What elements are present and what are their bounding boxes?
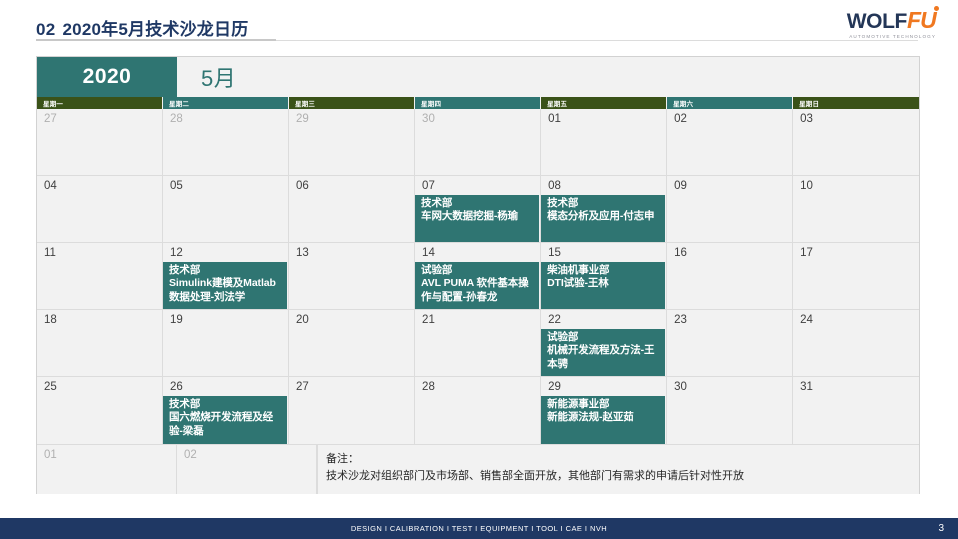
day-number: 17 [793,243,919,260]
day-number: 21 [415,310,540,327]
logo-wordmark: WOLF FU [847,9,936,32]
calendar-day-cell[interactable]: 05 [163,176,289,242]
calendar-day-cell[interactable]: 07技术部车网大数据挖掘-杨瑜 [415,176,541,242]
day-number: 30 [667,377,792,394]
day-number: 07 [415,176,540,193]
note-label: 备注： [326,451,919,468]
day-number: 06 [289,176,414,193]
day-number: 19 [163,310,288,327]
calendar-table: 2020 5月 星期一星期二星期三星期四星期五星期六星期日 2728293001… [36,56,920,494]
calendar-day-cell[interactable]: 27 [289,377,415,444]
calendar-day-cell[interactable]: 28 [415,377,541,444]
brand-logo: WOLF FU AUTOMOTIVE TECHNOLOGY [820,6,936,42]
logo-accent-label: FU [907,7,936,33]
calendar-day-cell[interactable]: 09 [667,176,793,242]
day-number: 28 [163,109,288,126]
calendar-trailing-day-cell[interactable]: 01 [37,445,177,494]
event-line: Simulink建模及Matlab数据处理-刘法学 [169,277,284,304]
calendar-day-cell[interactable]: 27 [37,109,163,175]
day-number: 24 [793,310,919,327]
day-number: 01 [37,445,176,462]
day-number: 03 [793,109,919,126]
event-line: 试验部 [547,331,662,344]
day-number: 11 [37,243,162,260]
calendar-day-cell[interactable]: 28 [163,109,289,175]
calendar-trailing-day-cell[interactable]: 02 [177,445,317,494]
calendar-day-cell[interactable]: 16 [667,243,793,309]
event-line: 技术部 [169,264,284,277]
day-number: 30 [415,109,540,126]
weekday-header-1: 星期一 [37,97,163,109]
day-number: 23 [667,310,792,327]
slide-root: 02 2020年5月技术沙龙日历 WOLF FU AUTOMOTIVE TECH… [0,0,958,539]
calendar-note: 备注：技术沙龙对组织部门及市场部、销售部全面开放，其他部门有需求的申请后针对性开… [317,445,919,494]
calendar-day-cell[interactable]: 13 [289,243,415,309]
calendar-day-cell[interactable]: 10 [793,176,919,242]
weekday-header-6: 星期六 [667,97,793,109]
event-line: 柴油机事业部 [547,264,662,277]
day-number: 13 [289,243,414,260]
calendar-day-cell[interactable]: 29新能源事业部新能源法规-赵亚茹 [541,377,667,444]
weekday-header-2: 星期二 [163,97,289,109]
event-line: 技术部 [169,398,284,411]
day-number: 26 [163,377,288,394]
day-number: 18 [37,310,162,327]
calendar-day-cell[interactable]: 14试验部AVL PUMA 软件基本操作与配置-孙春龙 [415,243,541,309]
event-line: 机械开发流程及方法-王本骋 [547,344,662,371]
calendar-day-cell[interactable]: 11 [37,243,163,309]
calendar-week-row: 2526技术部国六燃烧开发流程及经验-梁磊272829新能源事业部新能源法规-赵… [37,377,919,444]
calendar-note-row: 0102备注：技术沙龙对组织部门及市场部、销售部全面开放，其他部门有需求的申请后… [37,444,919,494]
calendar-day-cell[interactable]: 26技术部国六燃烧开发流程及经验-梁磊 [163,377,289,444]
calendar-year: 2020 [37,57,177,97]
day-number: 31 [793,377,919,394]
day-event[interactable]: 技术部国六燃烧开发流程及经验-梁磊 [163,396,287,444]
event-line: 试验部 [421,264,536,277]
day-number: 12 [163,243,288,260]
calendar-day-cell[interactable]: 23 [667,310,793,376]
day-number: 25 [37,377,162,394]
event-line: 技术部 [547,197,662,210]
calendar-day-cell[interactable]: 18 [37,310,163,376]
calendar-header: 2020 5月 [37,57,919,97]
event-line: DTI试验-王林 [547,277,662,290]
calendar-day-cell[interactable]: 03 [793,109,919,175]
page-title: 02 2020年5月技术沙龙日历 [0,8,958,38]
event-line: 技术部 [421,197,536,210]
day-number: 29 [289,109,414,126]
calendar-day-cell[interactable]: 08技术部模态分析及应用-付志申 [541,176,667,242]
page-number: 3 [938,518,944,539]
calendar-week-row: 04050607技术部车网大数据挖掘-杨瑜08技术部模态分析及应用-付志申091… [37,176,919,243]
section-number: 02 [36,21,56,38]
event-line: 车网大数据挖掘-杨瑜 [421,210,536,223]
calendar-day-cell[interactable]: 20 [289,310,415,376]
calendar-day-cell[interactable]: 30 [415,109,541,175]
day-number: 10 [793,176,919,193]
note-body: 技术沙龙对组织部门及市场部、销售部全面开放，其他部门有需求的申请后针对性开放 [326,468,919,485]
calendar-weeks: 2728293001020304050607技术部车网大数据挖掘-杨瑜08技术部… [37,109,919,444]
day-event[interactable]: 技术部Simulink建模及Matlab数据处理-刘法学 [163,262,287,309]
event-line: 国六燃烧开发流程及经验-梁磊 [169,411,284,438]
title-text: 2020年5月技术沙龙日历 [63,21,249,38]
day-number: 16 [667,243,792,260]
weekday-header-row: 星期一星期二星期三星期四星期五星期六星期日 [37,97,919,109]
day-number: 27 [37,109,162,126]
day-number: 28 [415,377,540,394]
calendar-week-row: 1819202122试验部机械开发流程及方法-王本骋2324 [37,310,919,377]
logo-tagline: AUTOMOTIVE TECHNOLOGY [849,34,936,39]
logo-accent-text: FU [907,9,936,32]
calendar-day-cell[interactable]: 30 [667,377,793,444]
day-event[interactable]: 技术部模态分析及应用-付志申 [541,195,665,242]
day-number: 02 [667,109,792,126]
event-line: 新能源法规-赵亚茹 [547,411,662,424]
footer-tags: DESIGN I CALIBRATION I TEST I EQUIPMENT … [351,524,607,533]
day-number: 05 [163,176,288,193]
calendar-day-cell[interactable]: 12技术部Simulink建模及Matlab数据处理-刘法学 [163,243,289,309]
day-number: 01 [541,109,666,126]
event-line: 模态分析及应用-付志申 [547,210,662,223]
calendar-day-cell[interactable]: 19 [163,310,289,376]
calendar-day-cell[interactable]: 01 [541,109,667,175]
calendar-day-cell[interactable]: 29 [289,109,415,175]
day-event[interactable]: 试验部机械开发流程及方法-王本骋 [541,329,665,376]
day-number: 29 [541,377,666,394]
logo-dot-icon [934,6,939,11]
event-line: AVL PUMA 软件基本操作与配置-孙春龙 [421,277,536,304]
day-number: 20 [289,310,414,327]
calendar-day-cell[interactable]: 21 [415,310,541,376]
calendar-day-cell[interactable]: 22试验部机械开发流程及方法-王本骋 [541,310,667,376]
calendar-day-cell[interactable]: 24 [793,310,919,376]
day-number: 04 [37,176,162,193]
day-number: 14 [415,243,540,260]
footer-bar: DESIGN I CALIBRATION I TEST I EQUIPMENT … [0,518,958,539]
calendar-day-cell[interactable]: 17 [793,243,919,309]
calendar-day-cell[interactable]: 02 [667,109,793,175]
day-number: 15 [541,243,666,260]
calendar-week-row: 1112技术部Simulink建模及Matlab数据处理-刘法学1314试验部A… [37,243,919,310]
calendar-month: 5月 [177,57,919,97]
weekday-header-3: 星期三 [289,97,415,109]
day-number: 09 [667,176,792,193]
calendar-day-cell[interactable]: 31 [793,377,919,444]
title-underline [36,39,276,41]
day-event[interactable]: 技术部车网大数据挖掘-杨瑜 [415,195,539,242]
weekday-header-5: 星期五 [541,97,667,109]
calendar-day-cell[interactable]: 04 [37,176,163,242]
day-event[interactable]: 试验部AVL PUMA 软件基本操作与配置-孙春龙 [415,262,539,309]
day-event[interactable]: 柴油机事业部DTI试验-王林 [541,262,665,309]
day-number: 22 [541,310,666,327]
day-number: 02 [177,445,316,462]
day-number: 27 [289,377,414,394]
calendar-day-cell[interactable]: 15柴油机事业部DTI试验-王林 [541,243,667,309]
day-event[interactable]: 新能源事业部新能源法规-赵亚茹 [541,396,665,444]
day-number: 08 [541,176,666,193]
calendar-day-cell[interactable]: 25 [37,377,163,444]
calendar-week-row: 27282930010203 [37,109,919,176]
weekday-header-7: 星期日 [793,97,919,109]
event-line: 新能源事业部 [547,398,662,411]
weekday-header-4: 星期四 [415,97,541,109]
calendar-day-cell[interactable]: 06 [289,176,415,242]
logo-primary-text: WOLF [847,11,907,32]
